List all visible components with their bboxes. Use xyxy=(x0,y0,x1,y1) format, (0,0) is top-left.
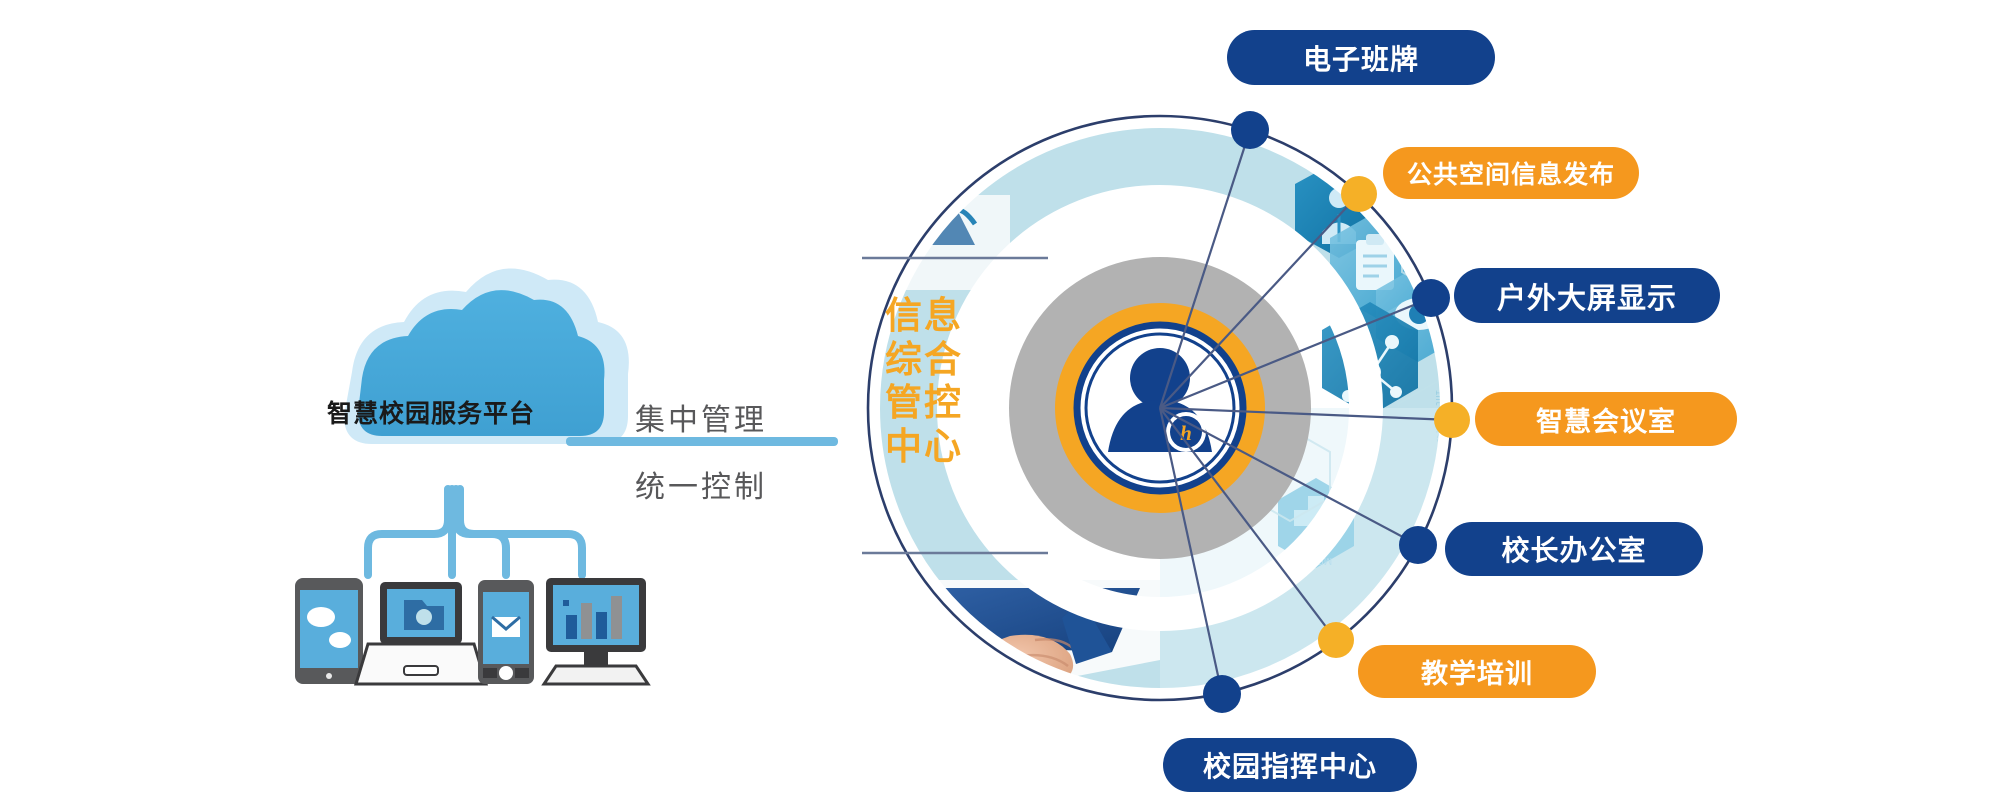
feature-text-unified: 统一控制 xyxy=(635,462,767,506)
node-dot-1[interactable] xyxy=(1231,111,1269,149)
node-dot-4[interactable] xyxy=(1434,402,1470,438)
node-label-electronic-class-board[interactable]: 电子班牌 xyxy=(1227,30,1495,85)
infographic-canvas: MEDIC int i; x<> while(x) for a > b retu… xyxy=(0,0,2001,808)
node-dot-2[interactable] xyxy=(1341,176,1377,212)
device-desktop xyxy=(544,578,648,684)
device-tablet xyxy=(295,578,363,684)
device-laptop xyxy=(356,582,486,684)
node-label-public-space-info-publishing[interactable]: 公共空间信息发布 xyxy=(1383,147,1639,199)
platform-cloud xyxy=(344,268,629,444)
hub-label-line-2: 综合 xyxy=(878,338,970,382)
node-label-principal-office[interactable]: 校长办公室 xyxy=(1445,522,1703,576)
node-dot-7[interactable] xyxy=(1203,675,1241,713)
node-label-campus-command-center[interactable]: 校园指挥中心 xyxy=(1163,738,1417,792)
hub-label-line-4: 中心 xyxy=(878,425,970,469)
node-label-smart-meeting-room[interactable]: 智慧会议室 xyxy=(1475,392,1737,446)
node-dot-3[interactable] xyxy=(1412,279,1450,317)
feature-text-centralized: 集中管理 xyxy=(635,395,767,439)
hub-label-line-1: 信息 xyxy=(878,294,970,338)
hub-label-line-3: 管控 xyxy=(878,381,970,425)
hub-label: 信息 综合 管控 中心 xyxy=(878,294,970,469)
node-dot-6[interactable] xyxy=(1318,622,1354,658)
node-dot-5[interactable] xyxy=(1399,526,1437,564)
device-tree-connector xyxy=(368,489,582,575)
node-label-outdoor-large-screen[interactable]: 户外大屏显示 xyxy=(1454,268,1720,323)
device-smartphone xyxy=(478,580,534,684)
node-label-teaching-training[interactable]: 教学培训 xyxy=(1358,645,1596,698)
